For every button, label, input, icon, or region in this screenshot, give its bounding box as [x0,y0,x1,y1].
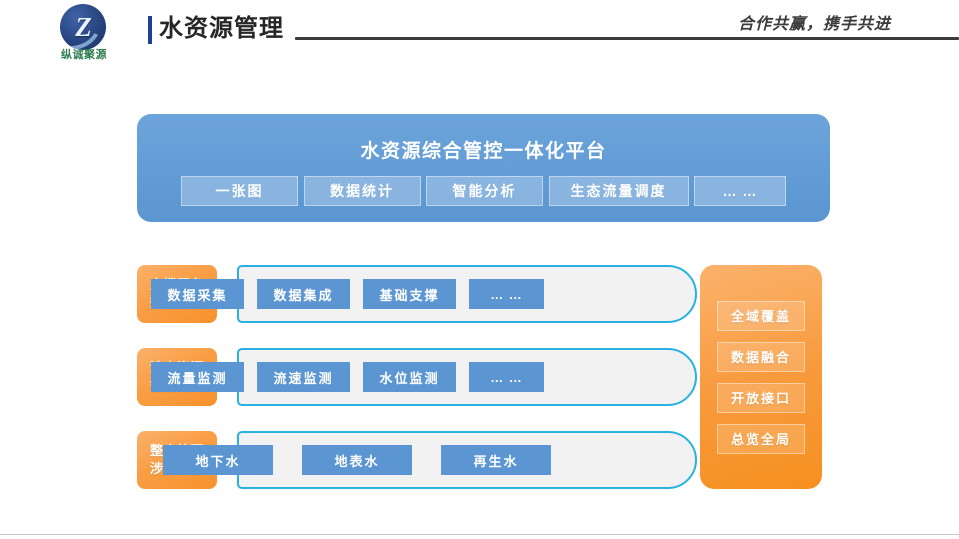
node-chip-data-integration[interactable]: 数据集成 [257,279,350,309]
footer-divider [0,534,959,535]
platform-chip-data-statistics[interactable]: 数据统计 [304,176,421,206]
node-chip-reclaimed-water[interactable]: 再生水 [441,445,551,475]
header-divider [295,37,959,40]
layer-node-list-resource-consolidation: 地下水 地表水 再生水 [163,431,551,489]
node-chip-flow-monitoring[interactable]: 流量监测 [151,362,244,392]
benefit-chip-data-fusion[interactable]: 数据融合 [717,342,805,372]
layer-row-support-services: 支撑服务 数据分析 数据采集 数据集成 基础支撑 … … [137,265,697,323]
company-logo: Z 纵诚聚源 [42,4,126,60]
benefit-chip-full-coverage[interactable]: 全域覆盖 [717,301,805,331]
layer-node-list-support-services: 数据采集 数据集成 基础支撑 … … [151,265,544,323]
logo-emblem-icon: Z [60,4,106,50]
platform-chip-more[interactable]: … … [694,176,786,206]
node-chip-water-level-monitoring[interactable]: 水位监测 [363,362,456,392]
benefit-chip-open-interface[interactable]: 开放接口 [717,383,805,413]
benefit-chip-global-overview[interactable]: 总览全局 [717,424,805,454]
title-accent-bar [148,16,152,44]
node-chip-data-collection[interactable]: 数据采集 [151,279,244,309]
page-title: 水资源管理 [159,13,284,45]
layer-row-smart-sensing: 涉水资源 智能感知 流量监测 流速监测 水位监测 … … [137,348,697,406]
platform-chip-eco-flow-dispatch[interactable]: 生态流量调度 [549,176,689,206]
node-chip-surface-water[interactable]: 地表水 [302,445,412,475]
layer-row-resource-consolidation: 整合梳理 涉水资源 地下水 地表水 再生水 [137,431,697,489]
node-chip-groundwater[interactable]: 地下水 [163,445,273,475]
platform-chip-one-map[interactable]: 一张图 [181,176,298,206]
header-slogan: 合作共赢，携手共进 [738,10,891,34]
page-header: Z 纵诚聚源 水资源管理 合作共赢，携手共进 [0,0,959,62]
layer-node-list-smart-sensing: 流量监测 流速监测 水位监测 … … [151,348,544,406]
platform-title: 水资源综合管控一体化平台 [137,136,830,163]
platform-chip-list: 一张图 数据统计 智能分析 生态流量调度 … … [181,176,786,206]
benefits-panel: 全域覆盖 数据融合 开放接口 总览全局 [700,265,822,489]
logo-letter: Z [60,4,106,50]
node-chip-velocity-monitoring[interactable]: 流速监测 [257,362,350,392]
node-chip-more-sensing[interactable]: … … [469,362,544,392]
platform-chip-smart-analysis[interactable]: 智能分析 [426,176,543,206]
platform-panel: 水资源综合管控一体化平台 一张图 数据统计 智能分析 生态流量调度 … … [137,114,830,222]
node-chip-more-support[interactable]: … … [469,279,544,309]
logo-wordmark: 纵诚聚源 [42,49,126,61]
node-chip-basic-support[interactable]: 基础支撑 [363,279,456,309]
